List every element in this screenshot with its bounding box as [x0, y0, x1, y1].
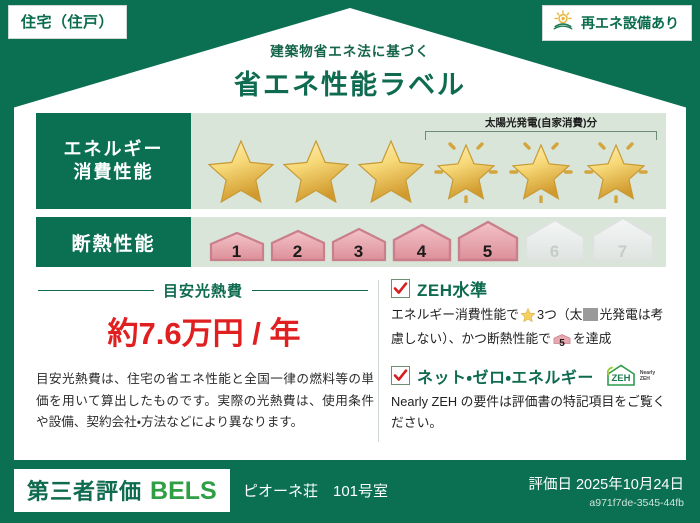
zeh-standard-title: ZEH水準: [417, 276, 488, 301]
insulation-level-number: 6: [523, 242, 587, 262]
energy-cost-heading-label: 目安光熱費: [163, 280, 243, 301]
bels-energy-label: 住宅（住戸） 再エネ設備あり 建築物省エネ法に基づく 省エネ性能ラベル: [0, 0, 700, 523]
column-divider: [378, 280, 379, 442]
bottom-content: 目安光熱費 約7.6万円 / 年 目安光熱費は、住宅の省エネ性能と全国一律の燃料…: [30, 276, 676, 452]
evaluation-info: 評価日 2025年10月24日 a971f7de-3545-44fb: [528, 473, 684, 509]
star-icon: [280, 135, 352, 203]
zeh-logo-subtext: Nearly ZEH: [640, 370, 655, 383]
solar-equipment-badge: 再エネ設備あり: [542, 5, 692, 41]
energy-cost-note: 目安光熱費は、住宅の省エネ性能と全国一律の燃料等の単価を用いて算出したものです。…: [36, 369, 374, 434]
solar-star-icon: [580, 135, 652, 203]
insulation-label-text: 断熱性能: [71, 229, 155, 256]
energy-performance-row: エネルギー 消費性能 太陽光発電(自家消費)分: [36, 113, 666, 209]
insulation-level-number: 2: [269, 242, 327, 262]
energy-cost-heading: 目安光熱費: [38, 280, 368, 301]
insulation-level-badge: 2: [269, 229, 327, 267]
check-icon: [393, 281, 408, 296]
heading-rule-right: [252, 290, 368, 292]
insulation-level-badge: 6: [523, 218, 587, 267]
insulation-level-badge: 5: [456, 220, 520, 267]
inline-insulation-badge: 5: [553, 332, 571, 353]
zeh-netzero-description: Nearly ZEH の要件は評価書の特記項目をご覧ください。: [391, 392, 676, 433]
check-icon: [393, 368, 408, 383]
zeh-standard-heading: ZEH水準: [391, 276, 676, 301]
solar-star-icon: [505, 135, 577, 203]
label-footer: 第三者評価 BELS ピオーネ荘 101号室 評価日 2025年10月24日 a…: [0, 461, 700, 523]
zeh-desc-part1: エネルギー消費性能で: [391, 307, 519, 322]
insulation-level-badge: 4: [391, 223, 453, 267]
third-party-label: 第三者評価: [27, 474, 142, 506]
heading-rule-left: [38, 290, 154, 292]
energy-performance-body: 太陽光発電(自家消費)分: [191, 113, 666, 209]
building-name: ピオーネ荘 101号室: [243, 480, 388, 501]
zeh-netzero-title: ネット・ゼロ・エネルギー: [417, 364, 594, 388]
evaluation-date: 評価日 2025年10月24日: [528, 473, 684, 494]
insulation-performance-row: 断熱性能: [36, 217, 666, 267]
energy-cost-panel: 目安光熱費 約7.6万円 / 年 目安光熱費は、住宅の省エネ性能と全国一律の燃料…: [30, 276, 378, 452]
solar-sun-icon: [552, 10, 574, 35]
bels-logo-text: BELS: [150, 477, 217, 506]
evaluation-id: a971f7de-3545-44fb: [528, 497, 684, 509]
redacted-character: [583, 308, 598, 321]
insulation-level-badges: 1 2 3: [191, 217, 666, 267]
insulation-performance-body: 1 2 3: [191, 217, 666, 267]
zeh-house-icon: ZEH: [604, 363, 638, 388]
home-type-label: 住宅（住戸）: [21, 14, 114, 31]
insulation-level-number: 5: [456, 242, 520, 262]
insulation-level-badge: 7: [590, 216, 656, 267]
zeh-logo: ZEH Nearly ZEH: [604, 363, 655, 388]
label-title-block: 建築物省エネ法に基づく 省エネ性能ラベル: [0, 40, 700, 102]
star-rating: [191, 135, 666, 203]
star-icon: [205, 135, 277, 203]
insulation-level-number: 7: [590, 242, 656, 262]
bels-plate: 第三者評価 BELS: [14, 469, 230, 512]
solar-star-icon: [430, 135, 502, 203]
checkbox-checked: [391, 279, 410, 298]
zeh-standard-description: エネルギー消費性能で3つ（太光発電は考慮しない）、かつ断熱性能で5を達成: [391, 305, 676, 352]
title-subtitle: 建築物省エネ法に基づく: [0, 40, 700, 60]
zeh-panel: ZEH水準 エネルギー消費性能で3つ（太光発電は考慮しない）、かつ断熱性能で5を…: [391, 276, 676, 452]
star-icon: [355, 135, 427, 203]
home-type-badge: 住宅（住戸）: [8, 5, 127, 39]
svg-text:ZEH: ZEH: [611, 373, 630, 384]
zeh-desc-part3: を達成: [573, 331, 611, 346]
inline-badge-number: 5: [553, 336, 571, 352]
insulation-level-number: 4: [391, 242, 453, 262]
solar-annotation-label: 太陽光発電(自家消費)分: [425, 115, 657, 130]
energy-performance-label: エネルギー 消費性能: [36, 113, 191, 209]
zeh-standard-block: ZEH水準 エネルギー消費性能で3つ（太光発電は考慮しない）、かつ断熱性能で5を…: [391, 276, 676, 352]
checkbox-checked: [391, 366, 410, 385]
insulation-performance-label: 断熱性能: [36, 217, 191, 267]
solar-equipment-label: 再エネ設備あり: [581, 13, 679, 33]
zeh-netzero-heading: ネット・ゼロ・エネルギー ZEH Nearly ZEH: [391, 363, 676, 388]
page-title: 省エネ性能ラベル: [0, 63, 700, 102]
performance-rows: エネルギー 消費性能 太陽光発電(自家消費)分: [36, 113, 666, 275]
energy-cost-value: 約7.6万円 / 年: [30, 308, 378, 353]
zeh-netzero-block: ネット・ゼロ・エネルギー ZEH Nearly ZEH Nearly ZE: [391, 363, 676, 433]
insulation-level-number: 3: [330, 242, 388, 262]
energy-label-line2: 消費性能: [74, 161, 154, 184]
insulation-level-badge: 3: [330, 227, 388, 267]
inline-star-icon: [520, 307, 536, 329]
zeh-desc-stars: 3つ（太: [537, 307, 583, 322]
insulation-level-number: 1: [208, 242, 266, 262]
energy-label-line1: エネルギー: [64, 138, 164, 161]
insulation-level-badge: 1: [208, 231, 266, 267]
